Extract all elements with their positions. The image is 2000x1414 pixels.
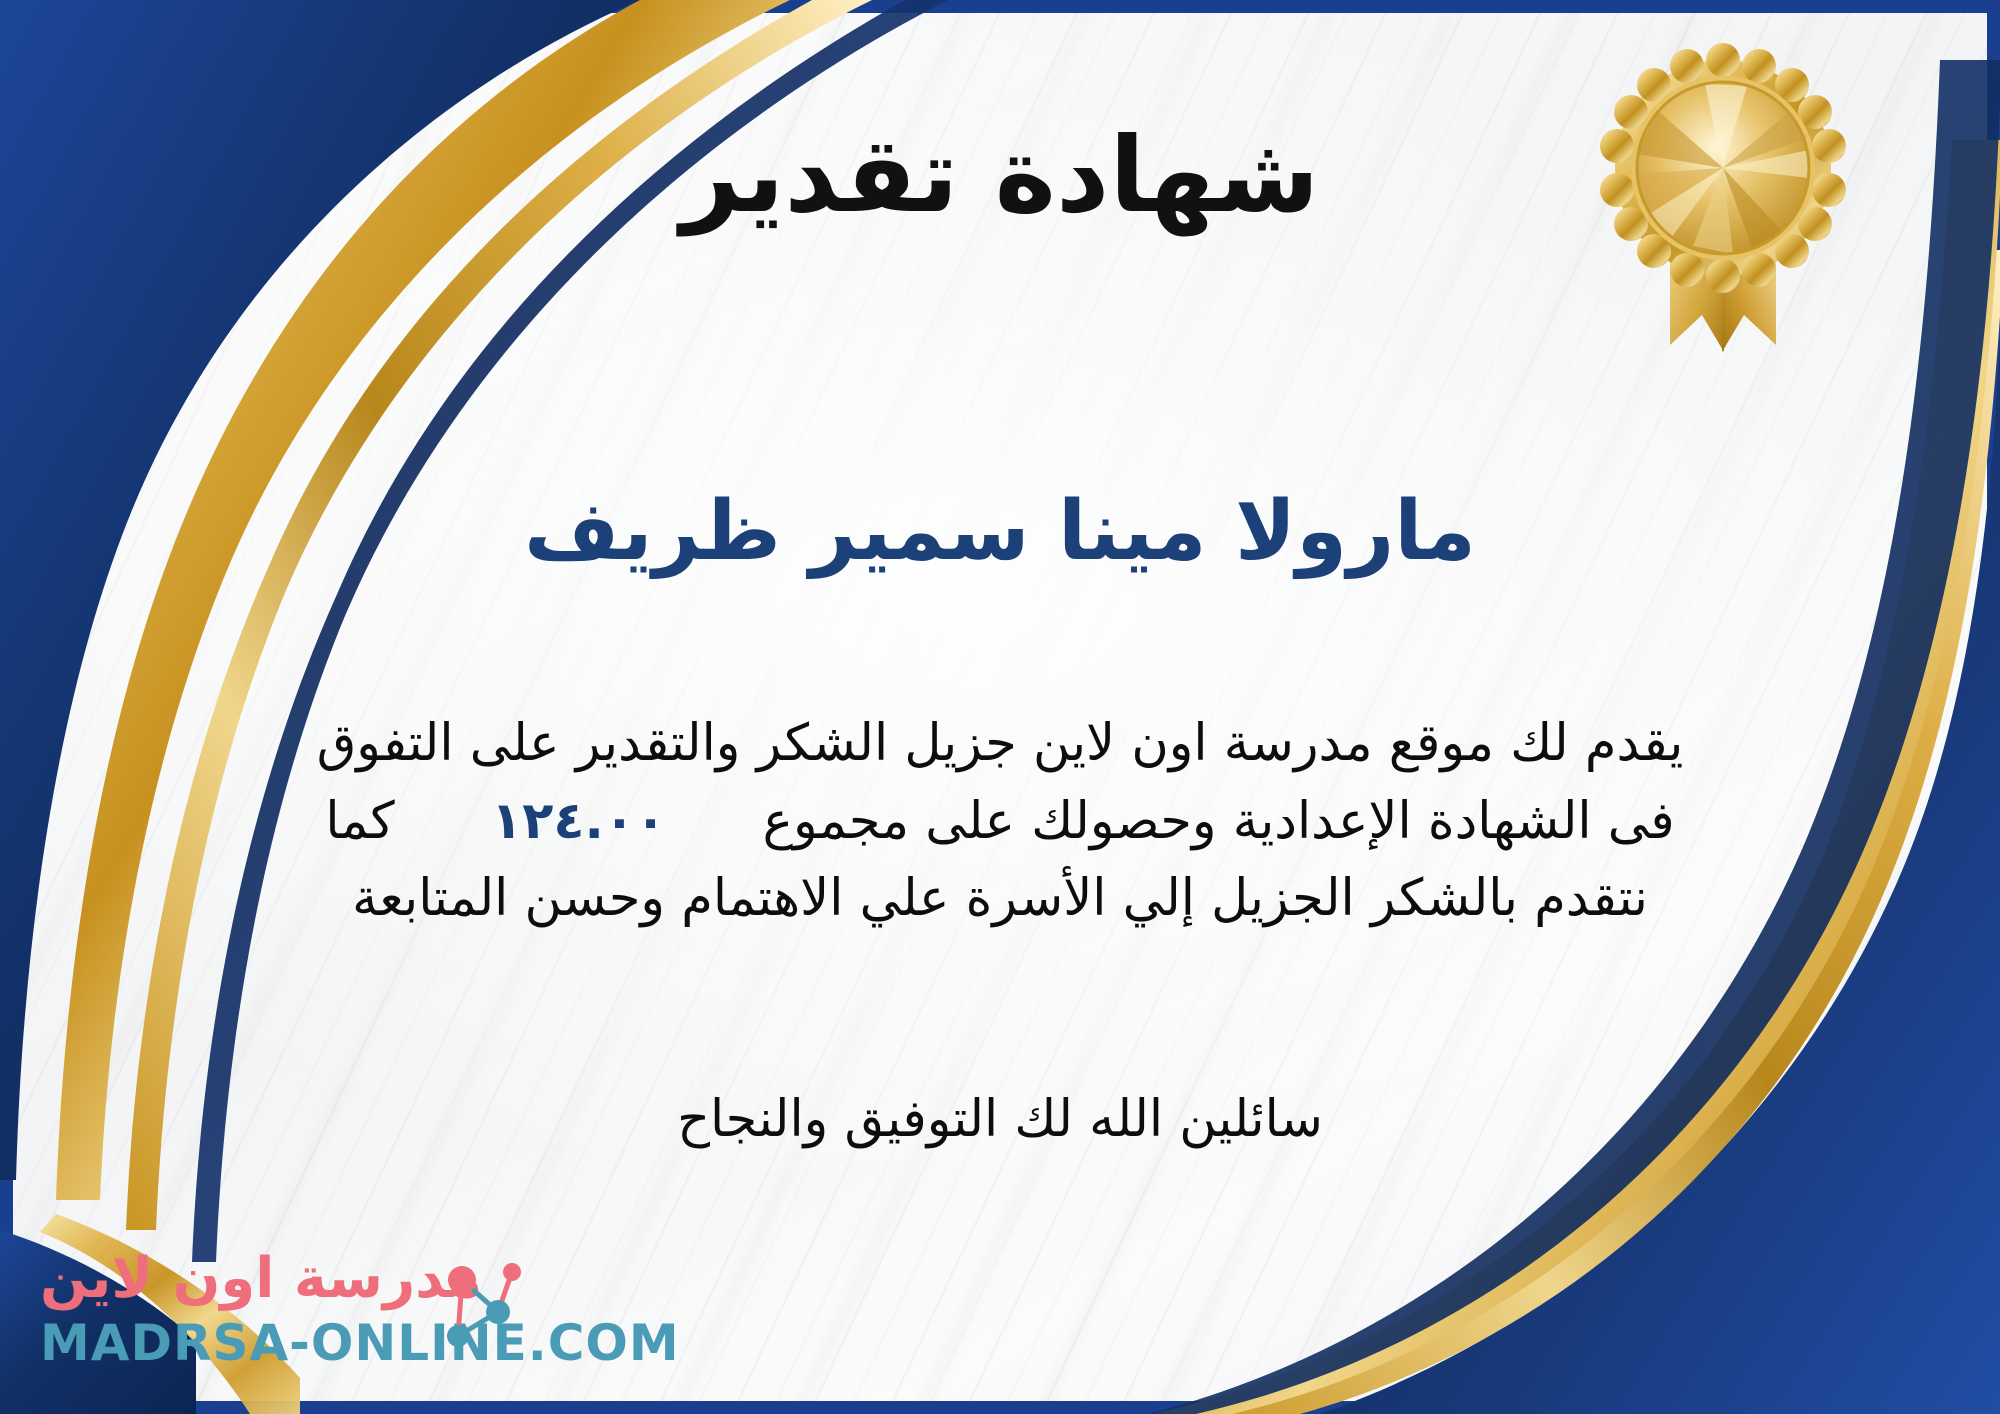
site-logo[interactable]: مدرسة اون لاين MADRSA-ONLINE.COM — [22, 1242, 522, 1392]
certificate: شهادة تقدير مارولا مينا سمير ظريف يقدم ل… — [0, 0, 2000, 1414]
score-value: ١٢٤.٠٠ — [473, 792, 684, 851]
body-line-1: يقدم لك موقع مدرسة اون لاين جزيل الشكر و… — [70, 705, 1930, 783]
certificate-content: شهادة تقدير مارولا مينا سمير ظريف يقدم ل… — [0, 0, 2000, 1414]
body-text: يقدم لك موقع مدرسة اون لاين جزيل الشكر و… — [70, 705, 1930, 938]
body-line-2-before: فى الشهادة الإعدادية وحصولك على مجموع — [763, 792, 1675, 851]
body-line-2-after: كما — [325, 792, 394, 851]
network-nodes-icon — [432, 1250, 528, 1370]
body-line-2: فى الشهادة الإعدادية وحصولك على مجموع ١٢… — [70, 783, 1930, 861]
body-line-3: نتقدم بالشكر الجزيل إلي الأسرة علي الاهت… — [70, 860, 1930, 938]
recipient-name: مارولا مينا سمير ظريف — [0, 485, 2000, 579]
page-title: شهادة تقدير — [0, 118, 2000, 232]
closing-line: سائلين الله لك التوفيق والنجاح — [0, 1090, 2000, 1149]
logo-arabic-text: مدرسة اون لاين — [40, 1246, 482, 1311]
logo-url-text: MADRSA-ONLINE.COM — [40, 1314, 680, 1372]
